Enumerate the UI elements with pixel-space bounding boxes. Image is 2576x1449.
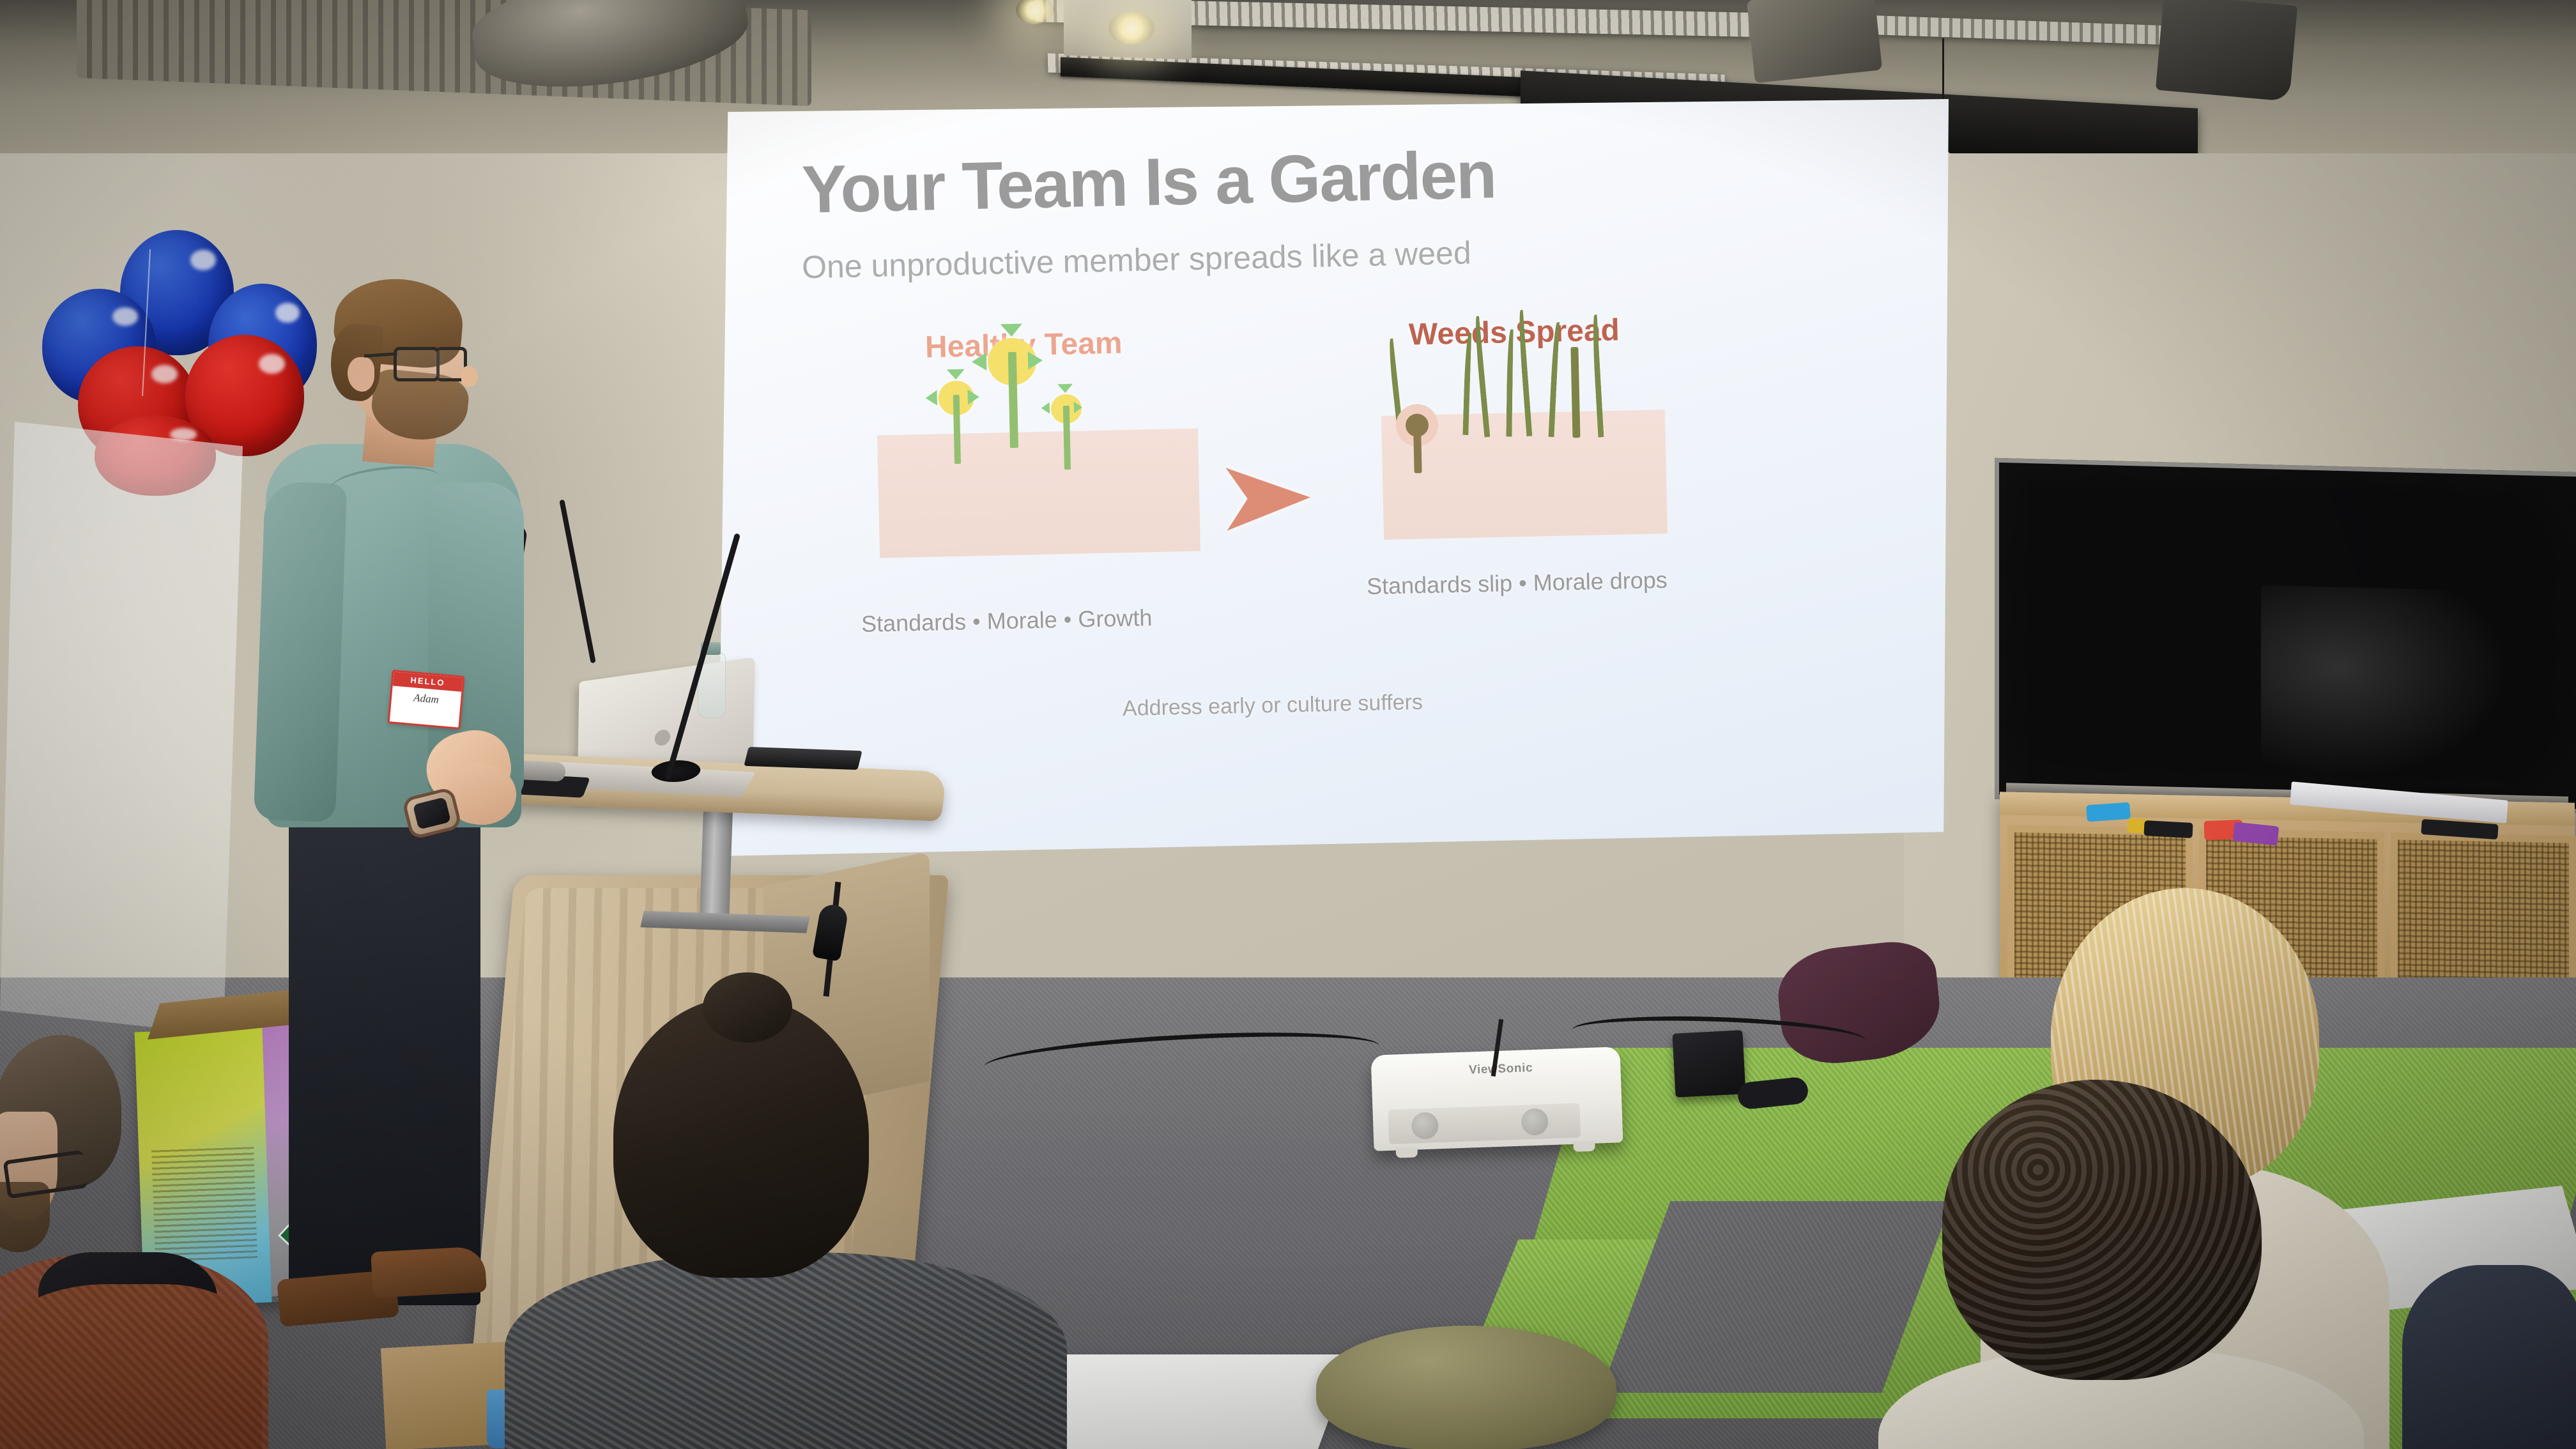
- flower-petal-right: [1074, 402, 1082, 413]
- tv-reflection: [2261, 585, 2523, 791]
- caption-healthy-team: Standards • Morale • Growth: [861, 604, 1152, 638]
- weed-wilted-stalk: [1570, 347, 1580, 438]
- audience-centre-hair-bun: [703, 972, 792, 1043]
- weed-group: [1384, 316, 1659, 473]
- weed-blade-3: [1473, 316, 1490, 437]
- ceiling-light-icon: [1108, 11, 1154, 45]
- presenter-trousers: [289, 807, 480, 1305]
- flower-petal-left: [972, 353, 987, 371]
- slide: Your Team Is a Garden One unproductive m…: [716, 99, 1949, 856]
- glasses-lens-left: [394, 347, 440, 381]
- ottoman-pouffe: [1316, 1326, 1616, 1449]
- desk-column: [700, 804, 733, 925]
- audience-centre: [511, 997, 1035, 1449]
- presenter: HELLO Adam: [256, 291, 524, 1326]
- weed-blade-2: [1462, 333, 1471, 435]
- presenter-shoe-right: [371, 1246, 487, 1298]
- soil-block-healthy: [877, 429, 1200, 558]
- ceiling-speaker-right: [2156, 0, 2297, 102]
- projector-foot-left: [1396, 1147, 1418, 1158]
- slide-title: Your Team Is a Garden: [801, 137, 1497, 229]
- weed-bulb-stem: [1413, 423, 1422, 473]
- projector-foot-right: [1573, 1141, 1595, 1152]
- flower-petal-left: [1041, 402, 1050, 414]
- flower-petal-right: [1028, 351, 1043, 369]
- slide-subtitle: One unproductive member spreads like a w…: [802, 234, 1472, 286]
- audience-right-curly: [1904, 1080, 2364, 1449]
- flower-petal-left: [926, 390, 938, 405]
- apple-logo-icon: [651, 721, 673, 749]
- presenter-ear: [348, 357, 374, 392]
- weed-blade-5: [1517, 310, 1533, 436]
- weed-blade-7: [1591, 314, 1604, 437]
- name-badge-header: HELLO: [393, 671, 463, 691]
- flower-petal-top: [1000, 324, 1022, 337]
- name-badge-name: Adam: [391, 689, 461, 708]
- projection-screen: Your Team Is a Garden One unproductive m…: [716, 99, 1949, 856]
- audience-right-curly-hair: [1942, 1080, 2262, 1380]
- low-table-centre: [1018, 1354, 1353, 1449]
- flower-petal-top: [947, 369, 965, 380]
- flower-centre: [987, 338, 1039, 449]
- flower-petal-top: [1057, 384, 1073, 394]
- flower-left: [937, 380, 977, 464]
- flower-petal-right: [968, 389, 980, 404]
- av-amplifier-box[interactable]: [1672, 1030, 1745, 1098]
- audience-far-right: [2402, 1265, 2576, 1449]
- wall-mounted-tv[interactable]: [1995, 458, 2576, 813]
- toy-black[interactable]: [2143, 820, 2193, 838]
- usb-hub[interactable]: [744, 747, 862, 770]
- audience-centre-fleece: [505, 1252, 1067, 1449]
- audience-front-left-shoulder: [0, 1284, 262, 1449]
- caption-weeds-spread: Standards slip • Morale drops: [1367, 567, 1668, 600]
- name-badge: HELLO Adam: [388, 670, 465, 730]
- presenter-nose: [461, 366, 478, 387]
- weed-blade-6: [1548, 322, 1560, 437]
- projector-brand-label: ViewSonic: [1469, 1061, 1533, 1077]
- flower-right: [1049, 394, 1084, 470]
- slide-footnote: Address early or culture suffers: [1123, 690, 1423, 721]
- weed-blade-4: [1506, 329, 1513, 436]
- transition-arrow-icon: ➤: [1217, 450, 1313, 541]
- toy-blue[interactable]: [2086, 802, 2131, 822]
- ceiling-speaker-left: [1747, 0, 1882, 83]
- presenter-arm-left: [254, 481, 347, 822]
- conference-room-scene: Your Team Is a Garden One unproductive m…: [0, 0, 2576, 1449]
- plastic-sheeting: [0, 422, 243, 1035]
